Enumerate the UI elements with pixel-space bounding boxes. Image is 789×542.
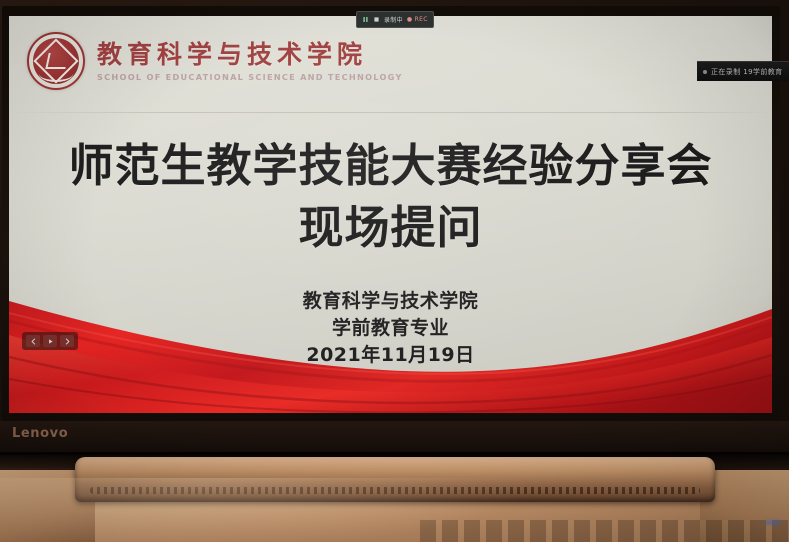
subtitle-line-organization: 教育科学与技术学院	[9, 288, 772, 315]
subtitle-line-date: 2021年11月19日	[9, 342, 772, 369]
presentation-toolbar[interactable]: 录制中 ● REC	[356, 11, 434, 28]
slide-playback-controls[interactable]	[22, 332, 78, 350]
school-name-chinese: 教育科学与技术学院	[97, 41, 403, 69]
pause-icon[interactable]	[362, 16, 369, 23]
overlay-label: 正在录制 19学前教育	[711, 67, 783, 77]
status-led	[765, 520, 781, 525]
floating-status-strip[interactable]: 正在录制 19学前教育	[697, 61, 789, 81]
photograph-of-laptop: 教育科学与技术学院 SCHOOL OF EDUCATIONAL SCIENCE …	[0, 0, 789, 542]
toolbar-label: 录制中	[384, 15, 403, 24]
stop-icon[interactable]	[373, 16, 380, 23]
slide-header: 教育科学与技术学院 SCHOOL OF EDUCATIONAL SCIENCE …	[27, 32, 403, 90]
header-divider	[9, 112, 772, 113]
laptop-screen[interactable]: 教育科学与技术学院 SCHOOL OF EDUCATIONAL SCIENCE …	[9, 16, 772, 413]
title-line-2: 现场提问	[9, 200, 772, 256]
recording-status: ● REC	[407, 16, 428, 23]
lid-bottom-lip	[0, 421, 789, 455]
lenovo-logo: Lenovo	[12, 426, 68, 441]
school-name-block: 教育科学与技术学院 SCHOOL OF EDUCATIONAL SCIENCE …	[97, 41, 403, 82]
deck-light-sheen	[0, 478, 789, 542]
title-line-1: 师范生教学技能大赛经验分享会	[9, 138, 772, 194]
school-emblem-icon	[27, 32, 85, 90]
slide-title: 师范生教学技能大赛经验分享会 现场提问	[9, 138, 772, 257]
slide-subtitle: 教育科学与技术学院 学前教育专业 2021年11月19日	[9, 288, 772, 369]
dot-icon	[703, 70, 707, 74]
previous-slide-button[interactable]	[26, 335, 40, 347]
play-slide-button[interactable]	[43, 335, 57, 347]
subtitle-line-major: 学前教育专业	[9, 315, 772, 342]
next-slide-button[interactable]	[60, 335, 74, 347]
school-name-english: SCHOOL OF EDUCATIONAL SCIENCE AND TECHNO…	[97, 72, 403, 82]
